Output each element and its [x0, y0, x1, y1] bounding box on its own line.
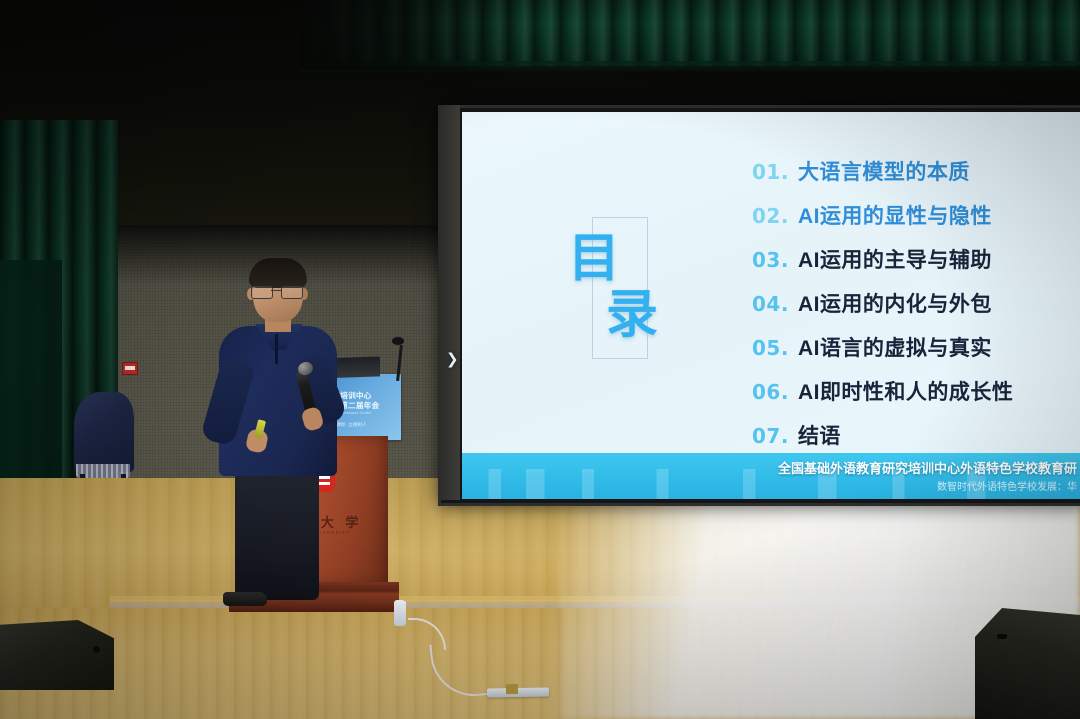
agenda-item: 04. AI运用的内化与外包 — [752, 288, 1080, 318]
agenda-item-label: AI即时性和人的成长性 — [798, 376, 1014, 406]
presenter-legs — [235, 470, 319, 600]
slide-heading-block: 目 录 — [568, 217, 646, 357]
agenda-item-number: 02. — [752, 204, 789, 228]
agenda-item-label: 大语言模型的本质 — [798, 156, 970, 186]
agenda-item-number: 01. — [752, 160, 789, 184]
heading-char-lu: 录 — [606, 289, 658, 341]
agenda-item: 06. AI即时性和人的成长性 — [752, 376, 1080, 406]
conference-hall-photo: 目 录 01. 大语言模型的本质 02. AI运用的显性与隐性 03. AI运用… — [0, 0, 1080, 719]
presenter-hair — [249, 258, 307, 288]
glasses-bridge — [271, 290, 281, 291]
presenter — [205, 262, 345, 622]
agenda-item-label: 结语 — [798, 420, 841, 450]
agenda-item-label: AI运用的显性与隐性 — [798, 200, 992, 230]
agenda-item: 05. AI语言的虚拟与真实 — [752, 332, 1080, 362]
glasses-lens — [281, 286, 303, 299]
chevron-right-icon[interactable]: ❯ — [446, 350, 459, 368]
agenda-item-number: 05. — [752, 336, 789, 360]
agenda-item: 02. AI运用的显性与隐性 — [752, 200, 1080, 230]
agenda-item-number: 06. — [752, 380, 789, 404]
agenda-item-number: 03. — [752, 248, 789, 272]
agenda-item: 01. 大语言模型的本质 — [752, 156, 1080, 186]
agenda-item-label: AI运用的内化与外包 — [798, 288, 992, 318]
gooseneck-mic-icon — [392, 337, 404, 345]
agenda-item: 07. 结语 — [752, 420, 1080, 450]
stage-monitor-right — [975, 608, 1080, 719]
glasses-icon — [251, 286, 305, 298]
agenda-item-label: AI运用的主导与辅助 — [798, 244, 992, 274]
piano-cover — [74, 392, 134, 472]
banner-title: 全国基础外语教育研究培训中心外语特色学校教育研 — [778, 458, 1077, 477]
screen-left-bezel — [438, 105, 460, 500]
fire-alarm-icon — [122, 362, 138, 375]
presenter-shoe — [223, 592, 267, 606]
shirt-placket — [275, 334, 278, 364]
projection-screen-frame: 目 录 01. 大语言模型的本质 02. AI运用的显性与隐性 03. AI运用… — [438, 105, 1080, 506]
banner-subtitle: 数智时代外语特色学校发展：华 — [937, 478, 1077, 493]
power-strip-icon — [487, 687, 549, 697]
slide-footer-banner: 全国基础外语教育研究培训中心外语特色学校教育研 数智时代外语特色学校发展：华 — [462, 453, 1080, 499]
agenda-item: 03. AI运用的主导与辅助 — [752, 244, 1080, 274]
heading-char-mu: 目 — [568, 233, 620, 285]
agenda-item-number: 04. — [752, 292, 789, 316]
projection-screen: 目 录 01. 大语言模型的本质 02. AI运用的显性与隐性 03. AI运用… — [462, 112, 1080, 499]
stage-monitor-left — [0, 620, 114, 690]
slide-agenda-list: 01. 大语言模型的本质 02. AI运用的显性与隐性 03. AI运用的主导与… — [752, 156, 1080, 464]
valance-shadow — [300, 0, 530, 70]
agenda-item-number: 07. — [752, 424, 789, 448]
power-plug-icon — [394, 600, 406, 626]
agenda-item-label: AI语言的虚拟与真实 — [798, 332, 992, 362]
glasses-lens — [251, 286, 273, 299]
